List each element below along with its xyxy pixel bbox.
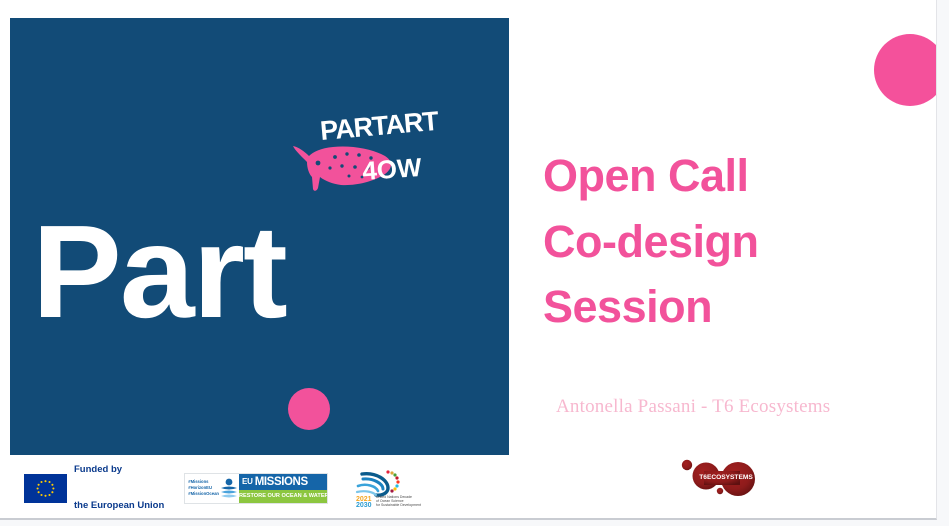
ocean-wave-icon xyxy=(219,474,239,503)
brand-wordmark: Part Art 4OW xyxy=(32,18,333,455)
footer-logo-strip: Funded by the European Union #Missions #… xyxy=(24,468,424,508)
eu-funding-label: Funded by the European Union xyxy=(74,441,164,521)
svg-text:PARTART: PARTART xyxy=(319,110,441,146)
t6-wordmark: T6ECOSYSTEMS xyxy=(699,474,753,481)
eu-missions-missions-label: MISSIONS xyxy=(255,476,308,488)
un-ocean-decade-logo: 2021 2030 United Nations Decade of Ocean… xyxy=(354,468,424,508)
headline-line-3: Session xyxy=(543,274,933,340)
eu-flag-icon xyxy=(24,474,67,503)
eu-funding-label-line-1: Funded by xyxy=(74,464,164,476)
eu-funding-logo: Funded by the European Union xyxy=(24,441,164,521)
brand-wordmark-line-1: Part xyxy=(32,219,333,325)
eu-missions-hashtags: #Missions #HorizonEU #MissionOcean xyxy=(185,474,219,503)
slide-headline: Open Call Co-design Session xyxy=(543,143,933,340)
eu-funding-label-line-2: the European Union xyxy=(74,500,164,512)
brand-panel: Part Art 4OW xyxy=(10,18,509,455)
eu-missions-eu-label: EU xyxy=(242,477,253,486)
decorative-pink-circle xyxy=(874,34,937,106)
brand-wordmark-dot xyxy=(288,388,330,430)
t6-ecosystems-logo: T6ECOSYSTEMS xyxy=(676,455,776,503)
eu-missions-subtitle-row: RESTORE OUR OCEAN & WATERS xyxy=(239,490,328,503)
svg-text:4OW: 4OW xyxy=(361,152,423,186)
eu-missions-subtitle: RESTORE OUR OCEAN & WATERS xyxy=(239,493,328,499)
eu-missions-hashtag-3: #MissionOcean xyxy=(188,491,219,497)
presenter-byline: Antonella Passani - T6 Ecosystems xyxy=(556,396,936,418)
svg-text:for Sustainable Development: for Sustainable Development xyxy=(376,503,421,507)
slide-canvas: Part Art 4OW xyxy=(0,0,937,520)
headline-line-1: Open Call xyxy=(543,143,933,209)
un-decade-year-to: 2030 xyxy=(356,502,372,508)
slide-root: Part Art 4OW xyxy=(0,0,949,526)
headline-line-2: Co-design xyxy=(543,209,933,275)
eu-missions-badge: #Missions #HorizonEU #MissionOcean EU xyxy=(184,473,328,504)
partart-4ow-whale-logo: PARTART 4OW xyxy=(285,110,455,215)
eu-missions-title-row: EU MISSIONS xyxy=(239,474,328,490)
eu-missions-text-block: EU MISSIONS RESTORE OUR OCEAN & WATERS xyxy=(239,474,328,503)
